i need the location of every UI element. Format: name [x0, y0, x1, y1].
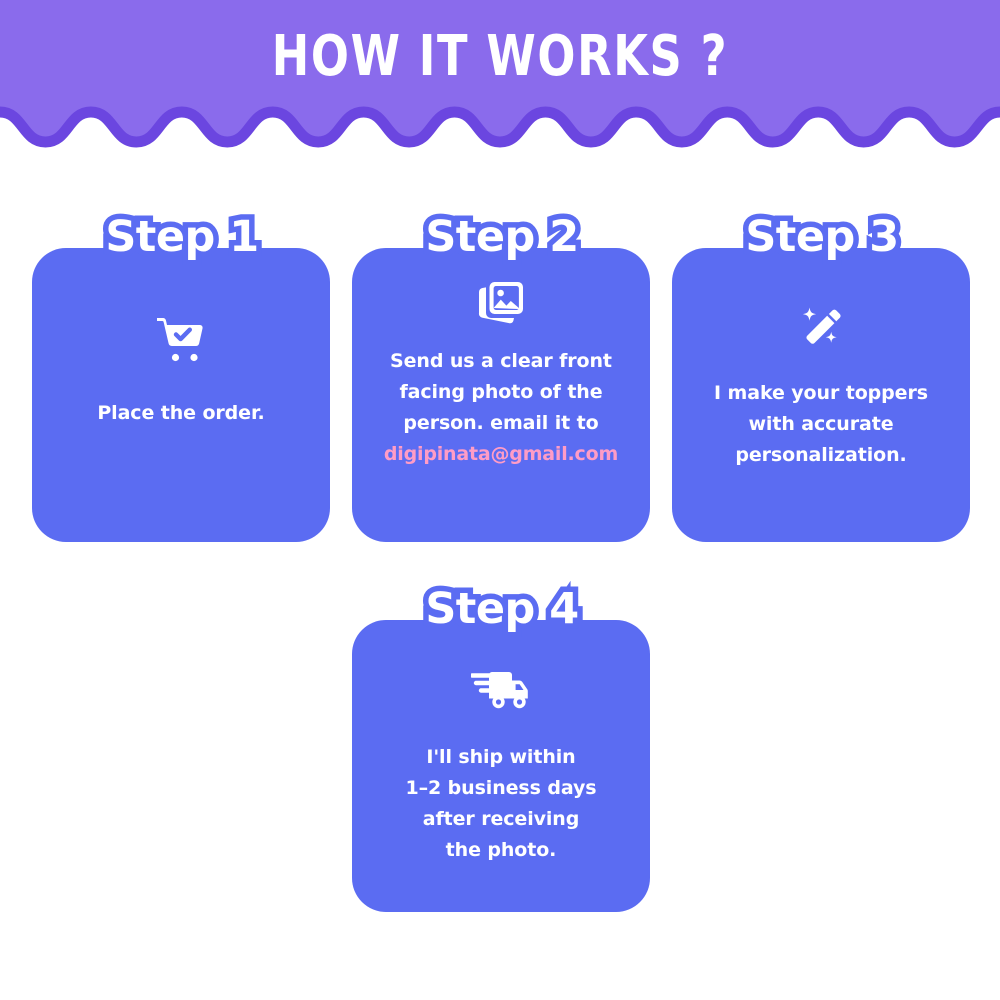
- step-text-2: Send us a clear front facing photo of th…: [372, 346, 630, 470]
- step-card-4[interactable]: I'll ship within 1–2 business days after…: [352, 620, 650, 912]
- step-text-line: after receiving: [406, 804, 597, 835]
- step-text-1: Place the order.: [85, 398, 276, 429]
- header-banner: HOW IT WORKS ?: [0, 0, 1000, 150]
- step-text-line: the photo.: [406, 835, 597, 866]
- step-label-3: Step 3: [672, 213, 972, 261]
- step-card-1[interactable]: Place the order.: [32, 248, 330, 542]
- shopping-cart-check-icon: [155, 314, 207, 364]
- step-text-line: with accurate: [714, 409, 928, 440]
- step-card-3[interactable]: I make your toppers with accurate person…: [672, 248, 970, 542]
- page-title: HOW IT WORKS ?: [100, 26, 900, 88]
- step-text-line: Place the order.: [97, 398, 264, 429]
- delivery-truck-icon: [471, 668, 531, 710]
- contact-email[interactable]: digipinata@gmail.com: [384, 439, 618, 470]
- step-label-1: Step 1: [32, 213, 332, 261]
- step-card-2[interactable]: Send us a clear front facing photo of th…: [352, 248, 650, 542]
- steps-row: Place the order. Send us a clear front f…: [32, 248, 970, 542]
- step-text-line: Send us a clear front: [384, 346, 618, 377]
- step-text-3: I make your toppers with accurate person…: [702, 378, 940, 471]
- step-text-line: 1–2 business days: [406, 773, 597, 804]
- photos-image-icon: [477, 280, 525, 324]
- step-text-line: facing photo of the: [384, 377, 618, 408]
- step-text-line: I make your toppers: [714, 378, 928, 409]
- step-text-line: personalization.: [714, 440, 928, 471]
- step-text-line: I'll ship within: [406, 742, 597, 773]
- step-text-line: person. email it to: [384, 408, 618, 439]
- magic-wand-sparkles-icon: [798, 306, 844, 350]
- step-text-4: I'll ship within 1–2 business days after…: [394, 742, 609, 866]
- step-label-2: Step 2: [352, 213, 652, 261]
- step-label-4: Step 4: [352, 585, 652, 633]
